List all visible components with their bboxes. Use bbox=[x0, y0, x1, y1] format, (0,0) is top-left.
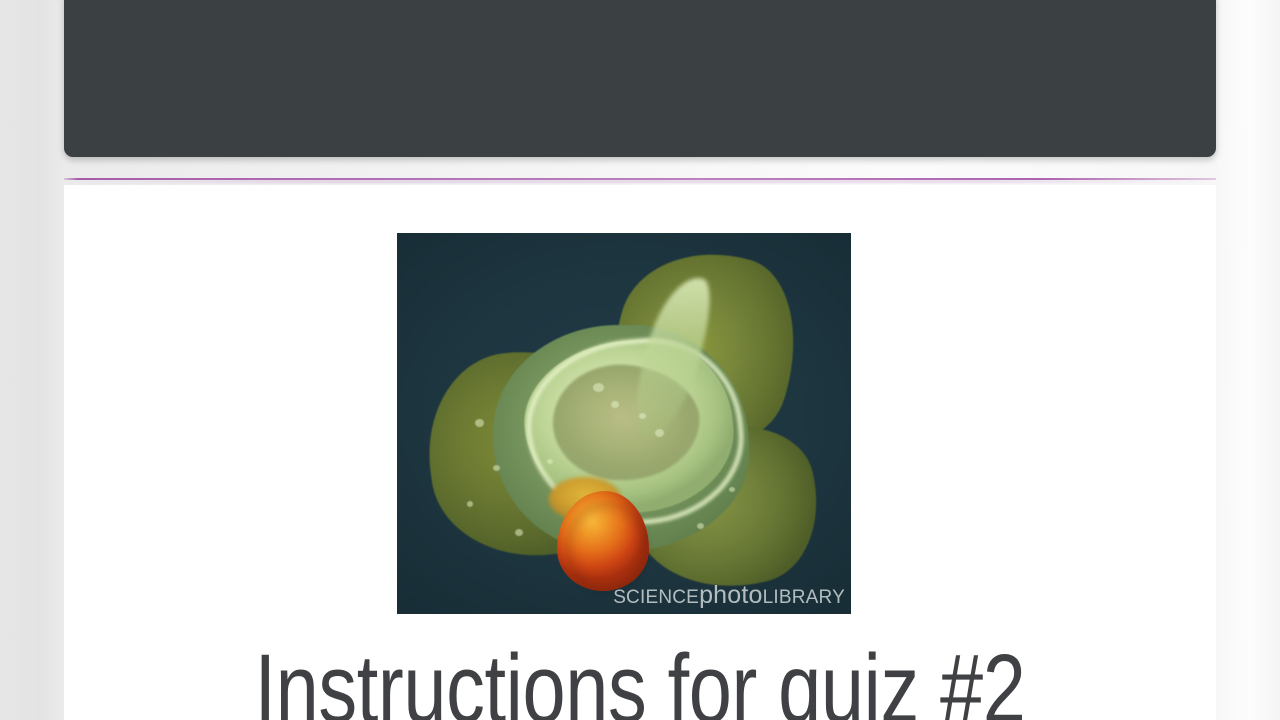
cell-speckle bbox=[655, 429, 664, 437]
cell-speckle bbox=[467, 501, 473, 507]
watermark-library: LIBRARY bbox=[763, 587, 845, 608]
slide-title: Instructions for quiz #2 bbox=[179, 637, 1101, 720]
cell-speckle bbox=[593, 383, 604, 392]
cell-speckle bbox=[639, 413, 646, 419]
cell-speckle bbox=[611, 401, 619, 408]
presentation-viewer: SCIENCEphotoLIBRARY Instructions for qui… bbox=[0, 0, 1280, 720]
cell-speckle bbox=[515, 529, 523, 536]
cell-speckle bbox=[493, 465, 500, 471]
slide-canvas: SCIENCEphotoLIBRARY Instructions for qui… bbox=[64, 185, 1216, 720]
watermark: SCIENCEphotoLIBRARY bbox=[613, 581, 845, 610]
watermark-photo: photo bbox=[699, 581, 763, 609]
amoeba-cell bbox=[397, 233, 851, 614]
watermark-science: SCIENCE bbox=[613, 587, 699, 608]
cell-speckle bbox=[547, 459, 553, 464]
micrograph-image[interactable]: SCIENCEphotoLIBRARY bbox=[397, 233, 851, 614]
accent-divider bbox=[64, 170, 1216, 186]
cell-speckle bbox=[475, 419, 484, 427]
media-player-chrome[interactable] bbox=[64, 0, 1216, 157]
accent-divider-rule bbox=[64, 178, 1216, 180]
cell-speckle bbox=[697, 523, 704, 529]
accent-divider-glow bbox=[64, 180, 1216, 183]
cell-speckle bbox=[729, 487, 735, 492]
